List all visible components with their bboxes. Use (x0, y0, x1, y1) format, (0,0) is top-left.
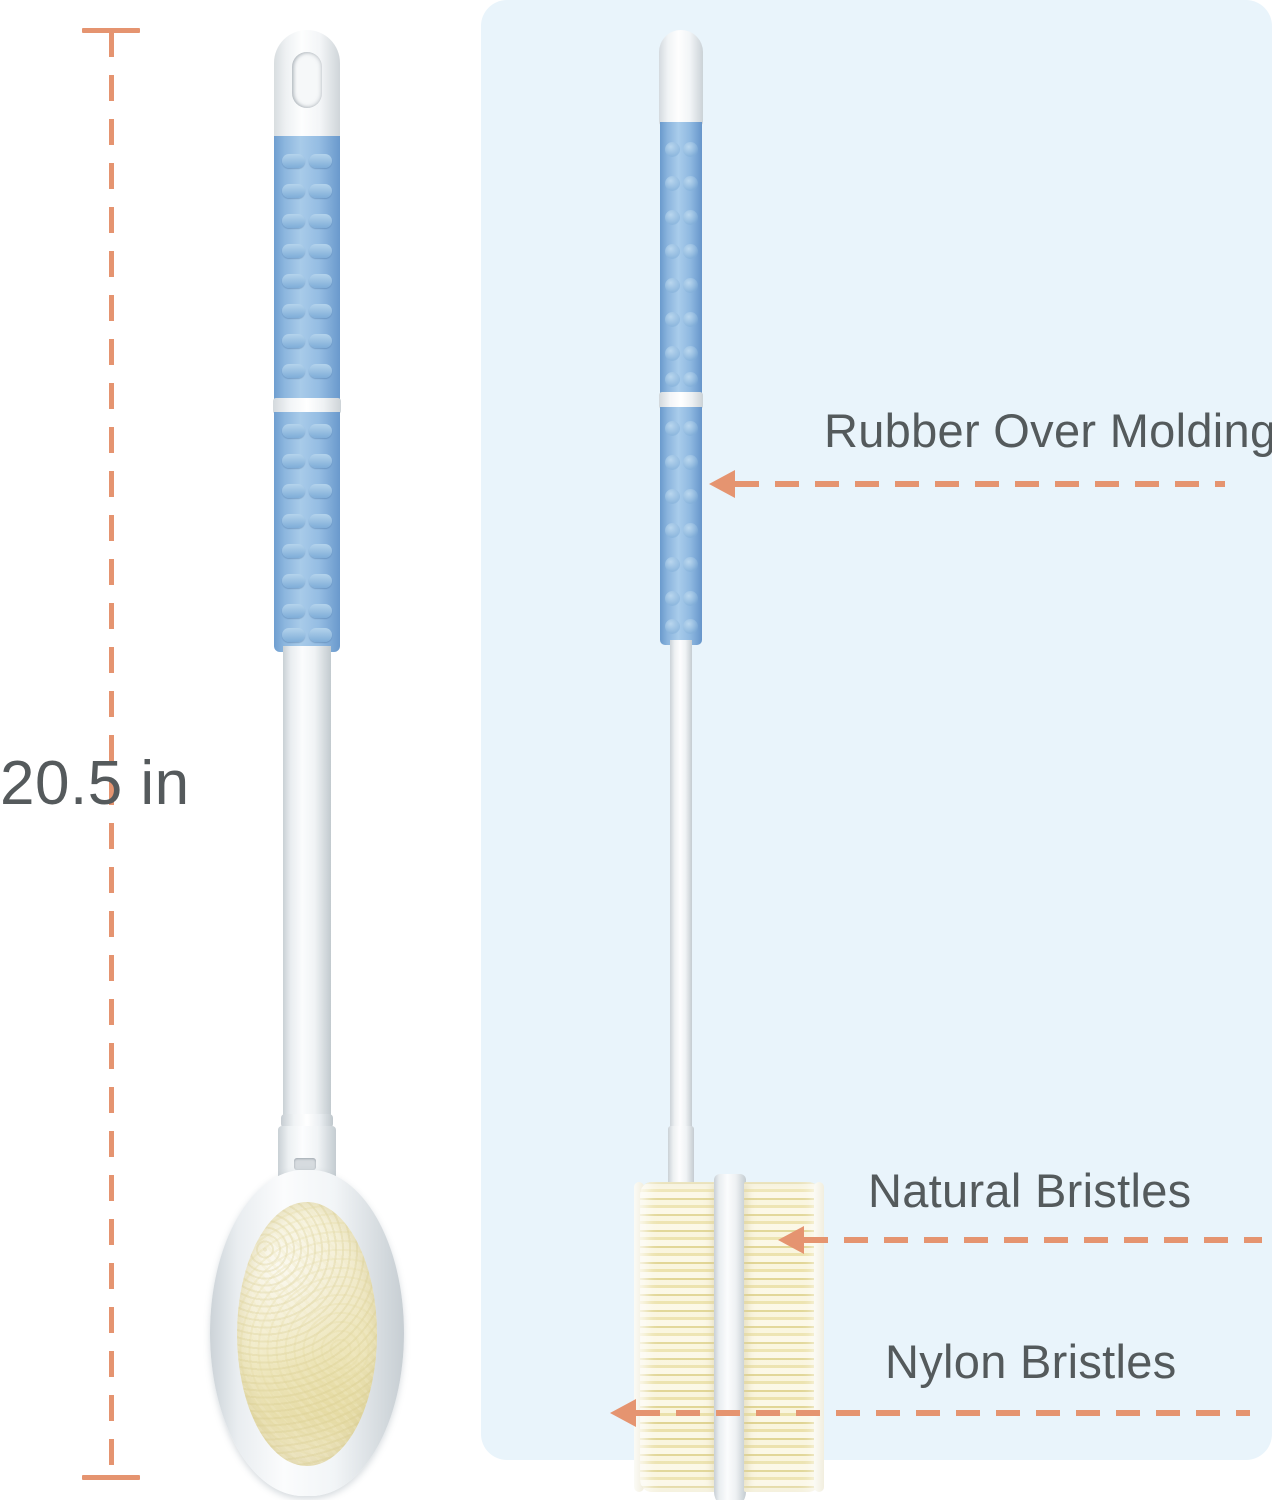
rubber-grip-lower-side (660, 407, 702, 645)
measurement-cap-bottom (82, 1475, 140, 1480)
handle-shaft-side (670, 640, 692, 1132)
callout-dashed-line (636, 1410, 1250, 1416)
callout-label-nylon-bristles: Nylon Bristles (885, 1334, 1177, 1389)
callout-label-rubber-over-molding: Rubber Over Molding (824, 403, 1272, 458)
product-infographic: 20.5 in (0, 0, 1272, 1500)
arrow-left-icon (709, 470, 735, 498)
arrow-left-icon (610, 1399, 636, 1427)
rubber-grip-upper-side (660, 122, 702, 394)
rubber-grip-lower (274, 412, 340, 652)
neck-slot-detail (294, 1158, 316, 1170)
callout-label-natural-bristles: Natural Bristles (868, 1163, 1191, 1218)
handle-rounded-cap (659, 30, 703, 126)
head-neck-side (668, 1126, 694, 1186)
callout-dashed-line (735, 481, 1225, 487)
hanging-hole (292, 52, 322, 108)
double-sided-brush-head (622, 1182, 838, 1492)
brush-side-view (630, 30, 830, 1490)
nylon-bristle-block-left (640, 1182, 716, 1492)
arrow-left-icon (778, 1226, 804, 1254)
handle-shaft (283, 646, 331, 1116)
brush-front-view (186, 30, 448, 1490)
callout-dashed-line (804, 1237, 1262, 1243)
rubber-grip-upper (274, 136, 340, 401)
bristle-edge-right (814, 1182, 824, 1492)
bristle-texture-overlay (237, 1202, 377, 1466)
head-center-spine (714, 1174, 746, 1500)
